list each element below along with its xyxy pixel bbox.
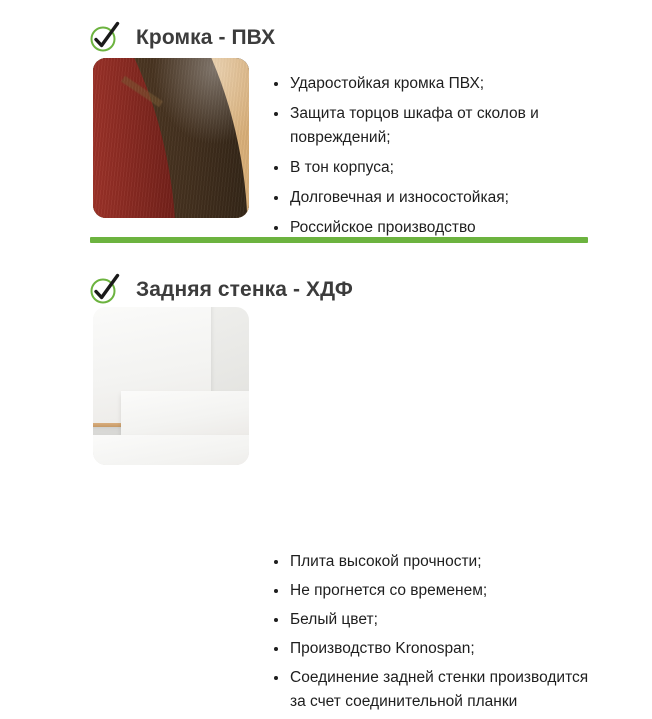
hdf-board-bottom (93, 435, 249, 465)
hdf-boards-photo (93, 307, 249, 465)
feature-list-back: Плита высокой прочности; Не прогнется со… (272, 550, 602, 719)
list-item: Плита высокой прочности; (272, 550, 602, 574)
list-item: Соединение задней стенки производится за… (272, 666, 602, 714)
pvc-edge-banding-photo (93, 58, 249, 218)
list-item: Не прогнется со временем; (272, 579, 602, 603)
highlight-overlay (93, 58, 249, 218)
list-item: В тон корпуса; (272, 156, 602, 180)
check-circle-icon (88, 272, 122, 306)
section-back-panel: Задняя стенка - ХДФ Плита высокой прочно… (0, 252, 652, 500)
section-heading-edge: Кромка - ПВХ (88, 18, 275, 56)
feature-page: Кромка - ПВХ Ударостойкая кромка ПВХ; За… (0, 0, 652, 500)
list-item: Защита торцов шкафа от сколов и поврежде… (272, 102, 602, 150)
section-edge-banding: Кромка - ПВХ Ударостойкая кромка ПВХ; За… (0, 0, 652, 232)
feature-list-edge: Ударостойкая кромка ПВХ; Защита торцов ш… (272, 72, 602, 246)
green-horizontal-rule (90, 237, 588, 243)
pvc-edge-banding-artwork (93, 58, 249, 218)
section-title-edge: Кромка - ПВХ (136, 27, 275, 48)
section-title-back: Задняя стенка - ХДФ (136, 279, 353, 300)
list-item: Ударостойкая кромка ПВХ; (272, 72, 602, 96)
section-heading-back: Задняя стенка - ХДФ (88, 270, 353, 308)
list-item: Производство Kronospan; (272, 637, 602, 661)
check-circle-icon (88, 20, 122, 54)
hdf-boards-artwork (93, 307, 249, 465)
list-item: Долговечная и износостойкая; (272, 186, 602, 210)
list-item: Белый цвет; (272, 608, 602, 632)
hdf-board-middle (121, 391, 249, 435)
